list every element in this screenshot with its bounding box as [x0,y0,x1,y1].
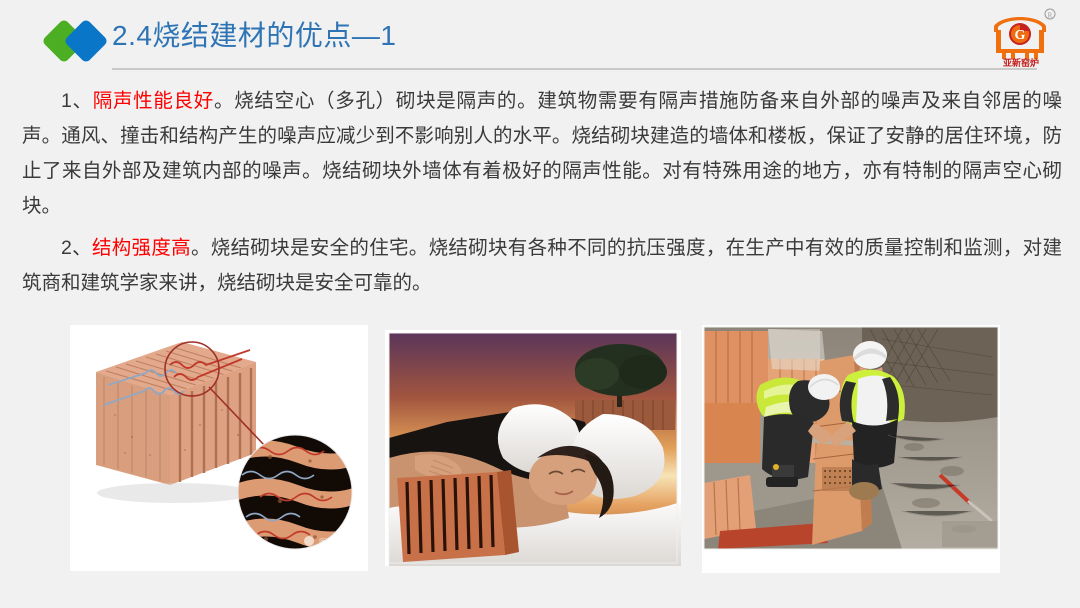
title-divider [112,68,1037,70]
image-sound-insulation-block: 图片来源 [70,325,368,571]
paragraph-1-number: 1、 [61,90,93,112]
paragraph-1-heading: 隔声性能良好 [93,90,214,112]
image-construction-site [702,325,1000,573]
image-watermark: 图片来源 [304,536,351,547]
paragraph-2-heading: 结构强度高 [92,237,191,259]
page-title: 2.4烧结建材的优点—1 [112,14,397,54]
image-quiet-sleep [385,330,681,566]
brand-logo: G R 亚新窑炉 [980,6,1062,68]
slide-header: 2.4烧结建材的优点—1 G R [0,0,1080,78]
brand-mark-letter: G [1015,28,1026,43]
svg-text:图片来源: 图片来源 [319,537,351,547]
image-row: 图片来源 [0,325,1080,575]
paragraph-2-number: 2、 [61,237,92,259]
body-text: 1、隔声性能良好。烧结空心（多孔）砌块是隔声的。建筑物需要有隔声措施防备来自外部… [22,84,1062,308]
slide: 2.4烧结建材的优点—1 G R [0,0,1080,608]
brand-name-text: 亚新窑炉 [1003,57,1039,68]
paragraph-2: 2、结构强度高。烧结砌块是安全的住宅。烧结砌块有各种不同的抗压强度，在生产中有效… [22,231,1062,301]
paragraph-1: 1、隔声性能良好。烧结空心（多孔）砌块是隔声的。建筑物需要有隔声措施防备来自外部… [22,84,1062,224]
svg-text:R: R [1048,12,1053,20]
